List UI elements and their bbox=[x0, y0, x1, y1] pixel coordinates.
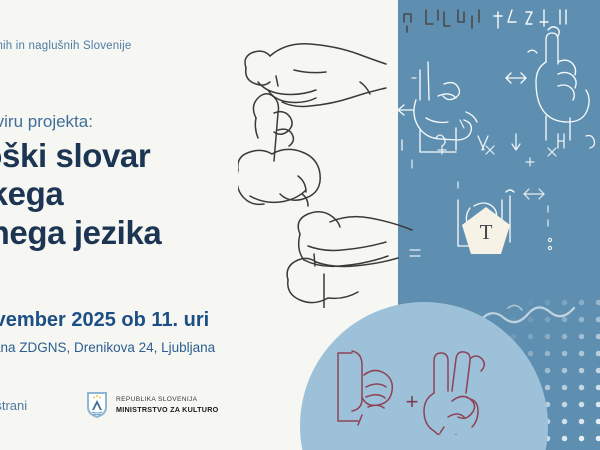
title-line-3: kovnega jezika bbox=[0, 214, 364, 252]
sponsor-line-2: MINISTRSTVO ZA KULTURO bbox=[116, 405, 219, 414]
slovenia-coat-of-arms-icon bbox=[86, 391, 108, 419]
hand-illustrations-circle-icon: + bbox=[330, 345, 520, 435]
page-title: nološki slovar enskega kovnega jezika bbox=[0, 137, 364, 252]
pentagon-letter: T bbox=[460, 205, 512, 257]
project-logo-mark: T bbox=[460, 205, 512, 257]
poster: + T bbox=[0, 0, 600, 450]
sponsor-text: REPUBLIKA SLOVENIJA MINISTRSTVO ZA KULTU… bbox=[116, 396, 219, 413]
title-line-1: nološki slovar bbox=[0, 137, 364, 175]
event-date: 7. november 2025 ob 11. uri bbox=[0, 309, 348, 332]
event-venue: na dvorana ZDGNS, Drenikova 24, Ljubljan… bbox=[0, 340, 368, 355]
event-kicker: ica v okviru projekta: bbox=[0, 112, 298, 132]
plus-symbol: + bbox=[406, 389, 419, 414]
organization-line: društev gluhih in naglušnih Slovenije bbox=[0, 40, 268, 52]
title-line-2: enskega bbox=[0, 175, 364, 213]
sponsor-line-1: REPUBLIKA SLOVENIJA bbox=[116, 396, 219, 404]
sponsor-logo: REPUBLIKA SLOVENIJA MINISTRSTVO ZA KULTU… bbox=[86, 391, 219, 419]
